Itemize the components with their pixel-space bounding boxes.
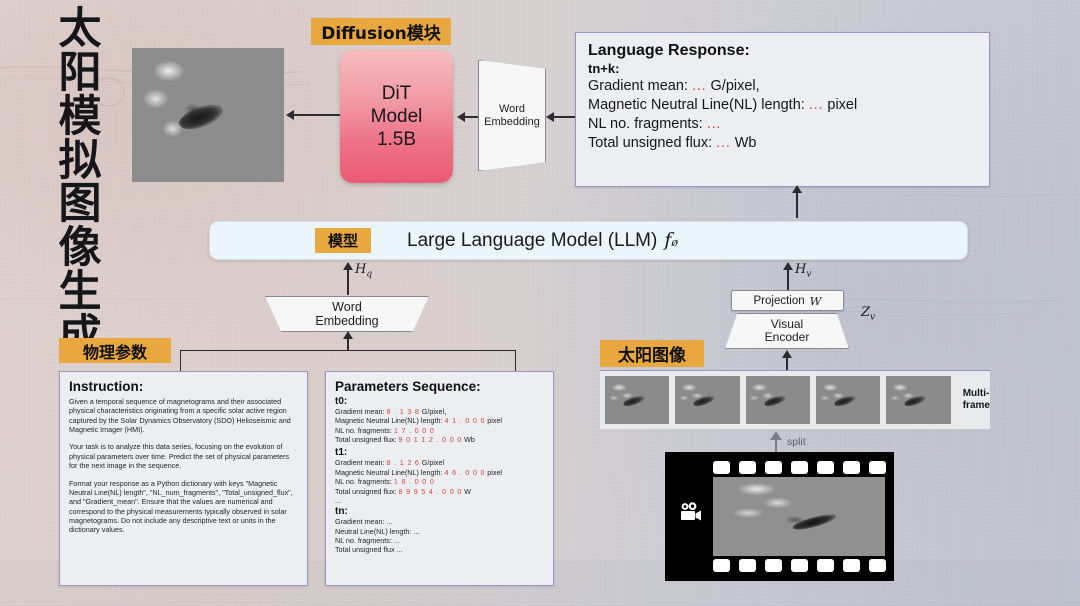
film-perforation (817, 559, 834, 572)
param-unit: G/pixel, (422, 407, 446, 416)
param-value: 8 9 9 5 4 . 0 0 0 (399, 487, 463, 496)
param-label: Magnetic Neutral Line(NL) length: (335, 468, 442, 477)
arrow-head-left-image (286, 110, 294, 120)
annotation-hq-symbol: H (355, 262, 366, 277)
parameter-row: Total unsigned flux ... (335, 545, 544, 554)
multi-frame-label-line2: frame (963, 400, 990, 413)
parameters-step-name: t1: (335, 447, 544, 458)
instruction-panel: Instruction: Given a temporal sequence o… (59, 371, 308, 586)
llm-label: Large Language Model (LLM) (407, 230, 657, 252)
arrow-line-wordemb-to-llm (347, 267, 349, 295)
param-value: 4 1 . 0 0 0 (444, 416, 485, 425)
param-label: Total unsigned flux (335, 545, 395, 554)
param-label: Gradient mean: (335, 458, 385, 467)
multi-frame-label: Multi- frame (963, 388, 990, 413)
parameters-step-name: t0: (335, 396, 544, 407)
movie-camera-icon (679, 502, 703, 524)
param-value: ... (394, 536, 400, 545)
film-perforation (843, 559, 860, 572)
lr-value: ... (716, 135, 731, 151)
visual-encoder-line1: Visual (765, 318, 810, 331)
arrow-head-up-encoder (782, 350, 792, 358)
film-perforation (791, 559, 808, 572)
param-value: 1 7 . 0 0 0 (394, 426, 435, 435)
dit-model-line2: Model (371, 105, 423, 128)
param-unit: G/pixel (422, 458, 444, 467)
connector-drop-parameters (515, 350, 516, 371)
lr-value: ... (692, 78, 707, 94)
parameter-row: Gradient mean: 8 . 1 3 8 G/pixel, (335, 407, 544, 416)
param-label: Magnetic Neutral Line(NL) length: (335, 416, 442, 425)
param-value: 4 6 . 0 0 0 (444, 468, 485, 477)
language-response-heading: Language Response: (588, 42, 977, 60)
parameter-row: Total unsigned flux: 8 9 9 5 4 . 0 0 0 W (335, 487, 544, 496)
lr-label: Magnetic Neutral Line(NL) length: (588, 97, 805, 113)
title-char: 图 (48, 183, 112, 227)
param-label: NL no. fragments: (335, 536, 392, 545)
frame-thumbnail[interactable] (886, 376, 950, 424)
annotation-zv: Zv (861, 305, 875, 323)
arrow-head-up-split (770, 431, 782, 440)
parameters-sequence-panel: Parameters Sequence: t0: Gradient mean: … (325, 371, 554, 586)
parameter-row: Gradient mean: 8 . 1 2 6 G/pixel (335, 458, 544, 467)
arrow-head-up-response (792, 185, 802, 193)
film-perforation (843, 461, 860, 474)
instruction-paragraph: Your task is to analyze this data series… (69, 442, 298, 470)
arrow-head-left-wordemb (546, 112, 554, 122)
parameter-row: Magnetic Neutral Line(NL) length: 4 6 . … (335, 468, 544, 477)
annotation-hv-subscript: v (806, 270, 811, 280)
film-perforation (713, 461, 730, 474)
annotation-hv: Hv (795, 262, 811, 280)
video-frame-magnetogram (713, 477, 885, 556)
badge-model-label: 模型 (328, 230, 358, 251)
visual-encoder-line2: Encoder (765, 331, 810, 344)
generated-magnetogram-image (132, 48, 284, 182)
lr-value: ... (809, 97, 824, 113)
projection-label: Projection (754, 295, 805, 307)
annotation-zv-symbol: Z (861, 305, 870, 320)
arrow-line-response-to-wordemb (551, 116, 575, 118)
connector-horizontal-wordemb (180, 350, 516, 351)
instruction-heading: Instruction: (69, 379, 298, 394)
param-label: NL no. fragments: (335, 477, 392, 486)
param-unit: pixel (487, 416, 502, 425)
param-value: 1 8 . 0 0 0 (394, 477, 435, 486)
arrow-head-up-llm-right (783, 262, 793, 270)
annotation-hv-symbol: H (795, 262, 806, 277)
film-perforation (869, 559, 886, 572)
param-label: NL no. fragments: (335, 426, 392, 435)
param-value: 8 . 1 2 6 (387, 458, 420, 467)
param-unit: Wb (464, 435, 475, 444)
split-label: split (787, 436, 806, 448)
param-label: Total unsigned flux: (335, 487, 397, 496)
param-label: Gradient mean: (335, 517, 385, 526)
title-char: 阳 (48, 52, 112, 96)
language-response-row: Gradient mean: ... G/pixel, (588, 77, 977, 96)
llm-symbol-subscript: ø (671, 236, 678, 249)
arrow-head-up-llm-left (343, 262, 353, 270)
title-char: 生 (48, 271, 112, 315)
lr-label: Gradient mean: (588, 78, 688, 94)
annotation-hq-subscript: q (366, 270, 372, 280)
title-char: 像 (48, 227, 112, 271)
film-perforation (869, 461, 886, 474)
multi-frame-label-line1: Multi- (963, 388, 990, 401)
dit-model-line3: 1.5B (377, 128, 416, 151)
word-embedding-top-block[interactable]: Word Embedding (478, 60, 546, 171)
language-response-panel: Language Response: tn+k: Gradient mean: … (575, 32, 990, 187)
title-char: 拟 (48, 140, 112, 184)
film-perforation (791, 461, 808, 474)
language-response-row: NL no. fragments: ... (588, 115, 977, 134)
param-value: ... (387, 517, 393, 526)
llm-bar[interactable]: 模型 Large Language Model (LLM) f ø (209, 221, 968, 260)
film-perforation (713, 559, 730, 572)
parameter-row: Magnetic Neutral Line(NL) length: 4 1 . … (335, 416, 544, 425)
instruction-paragraph: Format your response as a Python diction… (69, 479, 298, 535)
word-embedding-top-line1: Word (484, 103, 540, 115)
video-filmstrip[interactable] (665, 452, 894, 581)
multi-frame-strip: Multi- frame (600, 370, 990, 429)
film-perforation (739, 559, 756, 572)
word-embedding-bottom-line2: Embedding (315, 314, 378, 328)
language-response-row: Magnetic Neutral Line(NL) length: ... pi… (588, 96, 977, 115)
param-unit: W (464, 487, 471, 496)
lr-unit: G/pixel, (711, 78, 760, 94)
param-unit: pixel (487, 468, 502, 477)
param-value: ... (413, 527, 419, 536)
title-char: 模 (48, 96, 112, 140)
page-title-vertical: 太 阳 模 拟 图 像 生 成 (48, 8, 112, 359)
param-value: 8 . 1 3 8 (387, 407, 420, 416)
connector-drop-instruction (180, 350, 181, 371)
arrow-line-projection-to-llm (787, 267, 789, 291)
frame-thumbnail[interactable] (816, 376, 880, 424)
param-label: Total unsigned flux: (335, 435, 397, 444)
parameters-step-name: tn: (335, 506, 544, 517)
lr-value: ... (707, 116, 722, 132)
parameter-row: Neutral Line(NL) length: ... (335, 527, 544, 536)
arrow-head-up-wordemb (343, 331, 353, 339)
film-perforation (739, 461, 756, 474)
film-perforation (765, 559, 782, 572)
param-label: Gradient mean: (335, 407, 385, 416)
lr-label: Total unsigned flux: (588, 135, 712, 151)
lr-unit: pixel (827, 97, 857, 113)
frame-thumbnail[interactable] (675, 376, 739, 424)
title-char: 太 (48, 8, 112, 52)
language-response-timestep: tn+k: (588, 61, 977, 76)
parameter-row: NL no. fragments: ... (335, 536, 544, 545)
arrow-line-llm-to-response (796, 190, 798, 218)
annotation-hq: Hq (355, 262, 372, 280)
word-embedding-top-line2: Embedding (484, 116, 540, 128)
lr-unit: Wb (735, 135, 757, 151)
badge-diffusion-label: Diffusion模块 (321, 19, 441, 44)
film-perforation (765, 461, 782, 474)
parameter-row: Total unsigned flux: 9 0 1 1 2 . 0 0 0 W… (335, 435, 544, 444)
badge-physics-label: 物理参数 (83, 339, 147, 363)
split-label-text: split (787, 436, 806, 448)
dit-model-block[interactable]: DiT Model 1.5B (340, 50, 453, 183)
dit-model-line1: DiT (382, 82, 412, 105)
diagram-canvas: 太 阳 模 拟 图 像 生 成 Diffusion模块 DiT Model 1.… (0, 0, 1080, 606)
frame-thumbnail[interactable] (605, 376, 669, 424)
parameter-row: Gradient mean: ... (335, 517, 544, 526)
parameters-ellipsis: ... (335, 496, 544, 505)
badge-solar-image-label: 太阳图像 (618, 341, 686, 366)
parameter-row: NL no. fragments: 1 7 . 0 0 0 (335, 426, 544, 435)
parameter-row: NL no. fragments: 1 8 . 0 0 0 (335, 477, 544, 486)
badge-physics-parameters: 物理参数 (59, 338, 171, 363)
frame-thumbnail[interactable] (746, 376, 810, 424)
lr-label: NL no. fragments: (588, 116, 703, 132)
instruction-paragraph: Given a temporal sequence of magnetogram… (69, 397, 298, 434)
projection-block[interactable]: Projection W (731, 290, 844, 311)
word-embedding-bottom-line1: Word (315, 300, 378, 314)
llm-title: Large Language Model (LLM) f ø (407, 229, 678, 252)
film-perforation (817, 461, 834, 474)
projection-symbol: W (810, 294, 822, 308)
param-value: 9 0 1 1 2 . 0 0 0 (399, 435, 463, 444)
word-embedding-bottom-block[interactable]: Word Embedding (265, 296, 429, 332)
parameters-sequence-heading: Parameters Sequence: (335, 379, 544, 394)
badge-model: 模型 (315, 228, 371, 253)
arrow-head-left-dit (457, 112, 465, 122)
annotation-zv-subscript: v (870, 313, 875, 323)
badge-solar-image: 太阳图像 (600, 340, 704, 367)
language-response-row: Total unsigned flux: ... Wb (588, 134, 977, 153)
arrow-line-dit-to-image (292, 114, 344, 116)
visual-encoder-block[interactable]: Visual Encoder (725, 313, 849, 349)
param-label: Neutral Line(NL) length: (335, 527, 411, 536)
param-value: ... (397, 545, 403, 554)
badge-diffusion-module: Diffusion模块 (311, 18, 451, 45)
